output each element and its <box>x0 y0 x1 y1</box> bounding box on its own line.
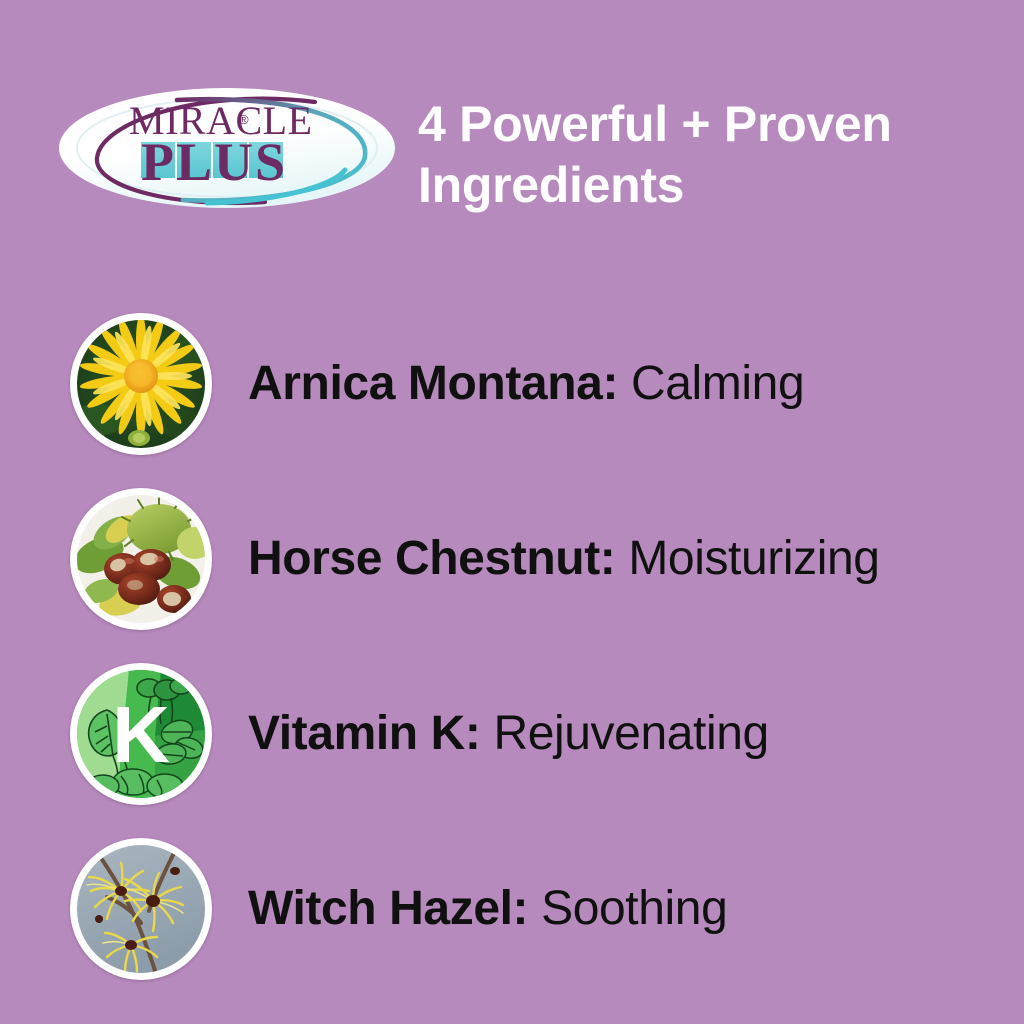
header: MIRACLE ® PLUS 4 Powerful + Proven Ingre… <box>0 0 1024 250</box>
ingredient-name: Horse Chestnut: <box>248 532 615 585</box>
ingredient-label-witch-hazel: Witch Hazel: Soothing <box>248 881 727 936</box>
ingredient-thumbnail-horse-chestnut <box>70 488 212 630</box>
horse-chestnut-photo <box>77 495 205 623</box>
ingredient-benefit: Calming <box>631 357 804 410</box>
ingredient-benefit: Moisturizing <box>628 532 879 585</box>
ingredient-list: Arnica Montana: Calming <box>0 296 1024 996</box>
ingredient-name: Witch Hazel: <box>248 882 528 935</box>
ingredient-label-arnica: Arnica Montana: Calming <box>248 356 804 411</box>
ingredient-row-horse-chestnut: Horse Chestnut: Moisturizing <box>0 471 1024 646</box>
ingredient-label-vitamin-k: Vitamin K: Rejuvenating <box>248 706 769 761</box>
page-title: 4 Powerful + Proven Ingredients <box>418 94 998 216</box>
arnica-flower-photo <box>77 320 205 448</box>
vitamin-k-letter: K <box>112 690 170 779</box>
logo-wordmark-plus: PLUS <box>141 132 287 192</box>
ingredient-benefit: Rejuvenating <box>493 707 768 760</box>
ingredient-thumbnail-vitamin-k: K <box>70 663 212 805</box>
ingredient-benefit: Soothing <box>541 882 727 935</box>
vitamin-k-greens-illustration: K <box>77 670 205 798</box>
ingredient-row-vitamin-k: K Vitamin K: Rejuvenating <box>0 646 1024 821</box>
logo-registered-icon: ® <box>239 112 249 127</box>
ingredient-name: Vitamin K: <box>248 707 481 760</box>
ingredient-thumbnail-witch-hazel <box>70 838 212 980</box>
ingredient-label-horse-chestnut: Horse Chestnut: Moisturizing <box>248 531 880 586</box>
ingredient-thumbnail-arnica <box>70 313 212 455</box>
ingredient-row-arnica: Arnica Montana: Calming <box>0 296 1024 471</box>
ingredient-name: Arnica Montana: <box>248 357 618 410</box>
ingredient-row-witch-hazel: Witch Hazel: Soothing <box>0 821 1024 996</box>
witch-hazel-photo <box>77 845 205 973</box>
miracle-plus-logo: MIRACLE ® PLUS <box>57 84 397 212</box>
